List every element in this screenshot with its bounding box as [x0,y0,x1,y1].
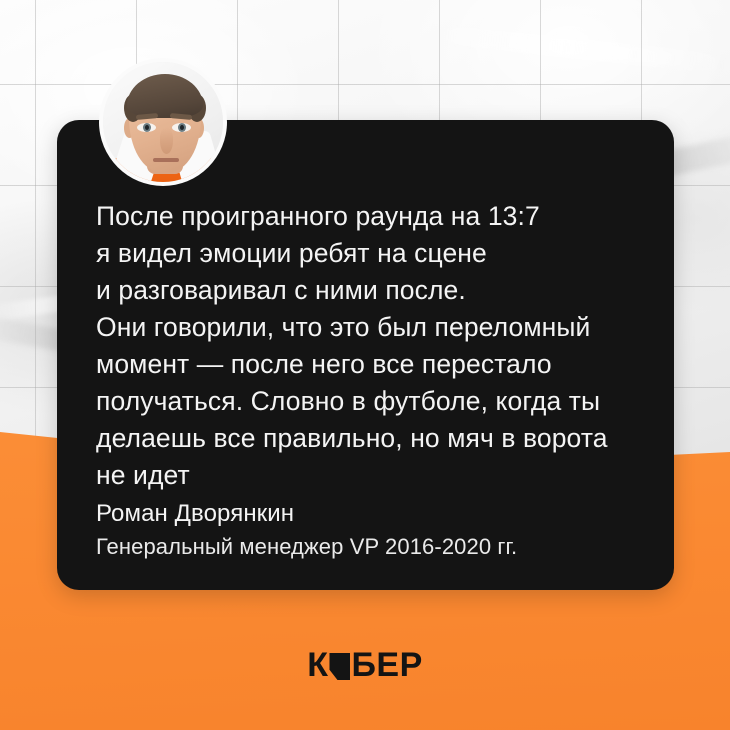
avatar [103,62,223,182]
brand-logo-part2: БЕР [351,646,422,685]
quote-text: После проигранного раунда на 13:7 я виде… [96,198,648,494]
avatar-mouth [153,158,179,162]
avatar-iris-left [143,123,151,132]
author-role: Генеральный менеджер VP 2016-2020 гг. [96,531,648,563]
avatar-pupil-left [145,125,149,130]
brand-logo: К БЕР [0,646,730,685]
avatar-pupil-right [180,125,184,130]
quote-card: После проигранного раунда на 13:7 я виде… [57,120,674,590]
avatar-nose [160,128,173,154]
author-name: Роман Дворянкин [96,497,648,531]
brand-logo-wordmark: К БЕР [307,646,423,685]
attribution: Роман Дворянкин Генеральный менеджер VP … [96,497,648,563]
avatar-iris-right [178,123,186,132]
avatar-eye-left [137,123,156,132]
avatar-eye-right [172,123,191,132]
brand-logo-i-glyph-icon [329,653,350,680]
quote-card-graphic: После проигранного раунда на 13:7 я виде… [0,0,730,730]
brand-logo-part1: К [307,646,328,685]
